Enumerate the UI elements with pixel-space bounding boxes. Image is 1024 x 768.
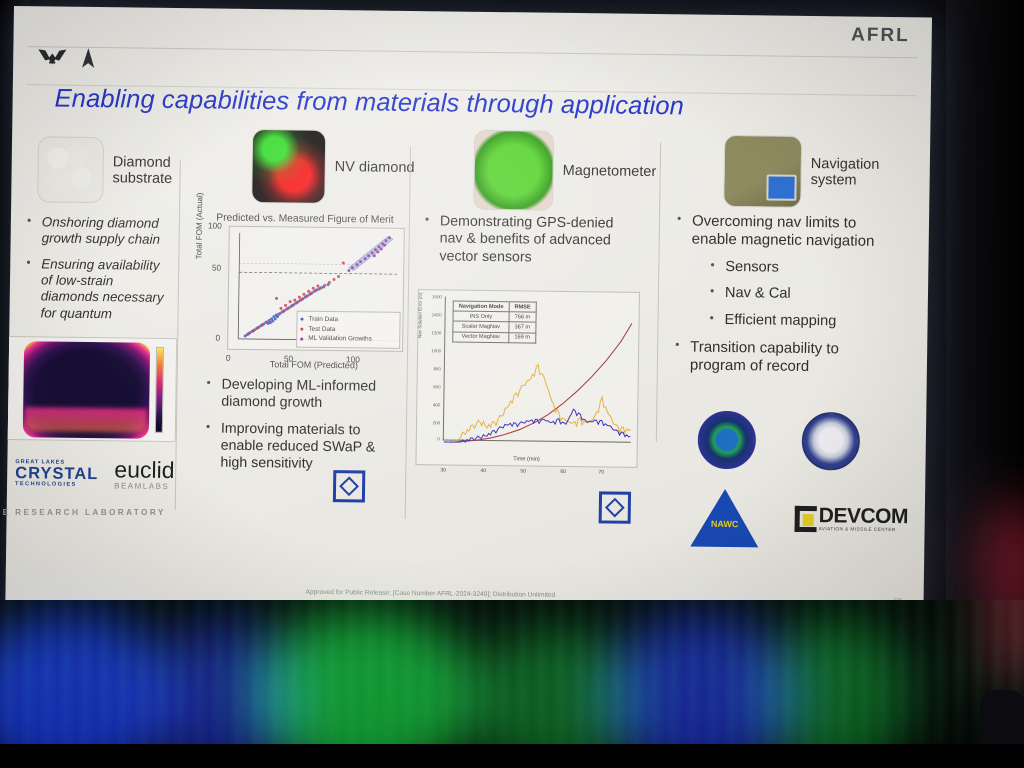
sub-bullet-item: Nav & Cal [708, 285, 898, 305]
magnetometer-photo [473, 130, 554, 211]
cell-rmse: 766 m [509, 312, 536, 323]
y-tick-label: 50 [212, 263, 221, 273]
y-tick-label: 100 [208, 220, 222, 230]
colorbar [155, 347, 164, 433]
thumb-cell-nv-diamond: NV diamond [251, 129, 415, 205]
euclid-beamlabs-logo: euclid BEAMLABS [114, 459, 175, 491]
y-tick-label: 800 [417, 366, 441, 371]
agency-seal-row-2: NAWC DEVCOM AVIATION & MISSILE CENTER [690, 489, 908, 550]
diamond-strain-figure [5, 336, 177, 442]
page-title: Enabling capabilities from materials thr… [54, 85, 814, 124]
bullet-item: Ensuring availability of low-strain diam… [23, 256, 174, 323]
x-tick-label: 0 [226, 353, 231, 363]
header-divider [27, 46, 917, 58]
x-tick-label: 40 [480, 468, 486, 474]
y-tick-label: 200 [416, 420, 440, 425]
bullet-item: Demonstrating GPS-denied nav & benefits … [422, 213, 639, 268]
x-tick-label: 30 [440, 467, 446, 473]
agency-logo-group [37, 46, 95, 69]
navigation-system-photo [723, 135, 802, 208]
wall-signage-text: RCE RESEARCH LABORATORY [0, 508, 166, 517]
release-statement: Approved for Public Release; [Case Numbe… [306, 589, 556, 599]
thumb-label-diamond-substrate: Diamond substrate [112, 154, 172, 187]
y-tick-label: 1400 [418, 312, 442, 317]
presentation-slide: AFRL Enabling capabilities from material… [5, 6, 932, 637]
sub-bullet-item: Efficient mapping [707, 312, 897, 332]
y-tick-label: 0 [416, 436, 440, 441]
x-tick-label: 100 [346, 354, 360, 364]
noaa-seal [697, 411, 756, 470]
chart-xlabel-fom: Total FOM (Predicted) [227, 359, 401, 371]
y-tick-label: 1600 [418, 294, 442, 299]
cell-rmse: 169 m [508, 332, 535, 343]
column-diamond-substrate: Onshoring diamond growth supply chain En… [23, 214, 175, 332]
column-magnetometer: Demonstrating GPS-denied nav & benefits … [422, 213, 639, 277]
column-nv-diamond: Developing ML-informed diamond growth Im… [203, 376, 395, 483]
legend-swatch-icon [300, 337, 303, 340]
stage-floor [0, 744, 1024, 768]
afrl-badge-mag [599, 491, 631, 523]
cell-rmse: 367 m [509, 322, 536, 333]
legend-swatch-icon [300, 328, 303, 331]
x-tick-label: 60 [560, 469, 566, 475]
y-tick-label: 400 [416, 402, 440, 407]
thumb-label-magnetometer: Magnetometer [563, 163, 657, 180]
table-row: Vector MagNav 169 m [453, 332, 536, 343]
diamond-substrate-photo [37, 136, 104, 203]
agency-seal-row-1 [697, 411, 860, 471]
thumb-label-navigation-system: Navigation system [811, 156, 880, 189]
column-header: RMSE [509, 302, 536, 313]
bullet-item: Improving materials to enable reduced SW… [203, 420, 394, 474]
cell-mode: Vector MagNav [453, 332, 509, 343]
great-lakes-crystal-technologies-logo: GREAT LAKES CRYSTAL TECHNOLOGIES [15, 460, 98, 489]
air-force-wings-logo [37, 47, 67, 67]
x-tick-label: 50 [520, 468, 526, 474]
bullet-item: Overcoming nav limits to enable magnetic… [675, 212, 900, 251]
afrl-wordmark: AFRL [851, 24, 910, 47]
capability-thumbnail-row: Diamond substrate NV diamond Magnetomete… [37, 124, 918, 227]
chart-ylabel-fom: Total FOM (Actual) [194, 193, 204, 260]
sub-bullet-item: Sensors [708, 258, 898, 278]
chart-title-fom: Predicted vs. Measured Figure of Merit [207, 212, 403, 225]
thumb-cell-magnetometer: Magnetometer [473, 130, 657, 212]
devcom-logo: DEVCOM AVIATION & MISSILE CENTER [795, 506, 909, 533]
magnav-chart-block: Nav Solution Error (m) 1600 1400 1200 10… [415, 289, 640, 468]
cell-mode: Scalar MagNav [453, 321, 509, 332]
chart-xlabel-nav: Time (min) [416, 455, 636, 464]
legend-swatch-icon [300, 318, 303, 321]
y-tick-label: 600 [417, 384, 441, 389]
sponsor-logo-row: GREAT LAKES CRYSTAL TECHNOLOGIES euclid … [15, 458, 175, 491]
bullet-item: Onshoring diamond growth supply chain [25, 214, 175, 249]
devcom-wordmark: DEVCOM [819, 507, 908, 527]
projection-screen: AFRL Enabling capabilities from material… [5, 6, 932, 637]
chart-legend-fom: Train Data Test Data ML Validation Growt… [296, 311, 401, 349]
space-force-delta-logo [81, 47, 95, 69]
thumb-cell-navigation-system: Navigation system [723, 135, 880, 209]
cell-mode: INS Only [453, 311, 509, 322]
thumb-cell-diamond-substrate: Diamond substrate [37, 136, 173, 204]
legend-entry: ML Validation Growths [300, 334, 396, 345]
scatter-chart-block: Predicted vs. Measured Figure of Merit T… [205, 212, 403, 370]
scatter-plot-fom: Train Data Test Data ML Validation Growt… [227, 226, 405, 352]
x-tick-label: 70 [598, 469, 604, 475]
y-tick-label: 0 [215, 333, 220, 343]
nawc-label: NAWC [705, 519, 745, 530]
bullet-item: Transition capability to program of reco… [673, 338, 898, 377]
y-tick-label: 1000 [417, 348, 441, 353]
devcom-subtitle: AVIATION & MISSILE CENTER [819, 526, 908, 532]
us-space-force-seal [801, 412, 860, 471]
diamond-strain-map-edge [25, 407, 147, 433]
nv-diamond-photo [251, 129, 326, 204]
line-chart-nav-error: Nav Solution Error (m) 1600 1400 1200 10… [415, 289, 640, 468]
navigation-rmse-table: Navigation Mode RMSE INS Only 766 m Scal… [452, 301, 537, 344]
bullet-item: Developing ML-informed diamond growth [204, 376, 395, 413]
photo-scene: AFRL Enabling capabilities from material… [0, 0, 1024, 768]
thumb-label-nv-diamond: NV diamond [335, 159, 415, 176]
column-navigation-system: Overcoming nav limits to enable magnetic… [673, 212, 899, 386]
nawc-seal: NAWC [690, 489, 759, 548]
y-tick-label: 1200 [417, 330, 441, 335]
afrl-badge-nv [333, 470, 365, 502]
devcom-mark-icon [795, 506, 817, 532]
column-header: Navigation Mode [453, 301, 509, 312]
x-tick-label: 50 [284, 353, 293, 363]
